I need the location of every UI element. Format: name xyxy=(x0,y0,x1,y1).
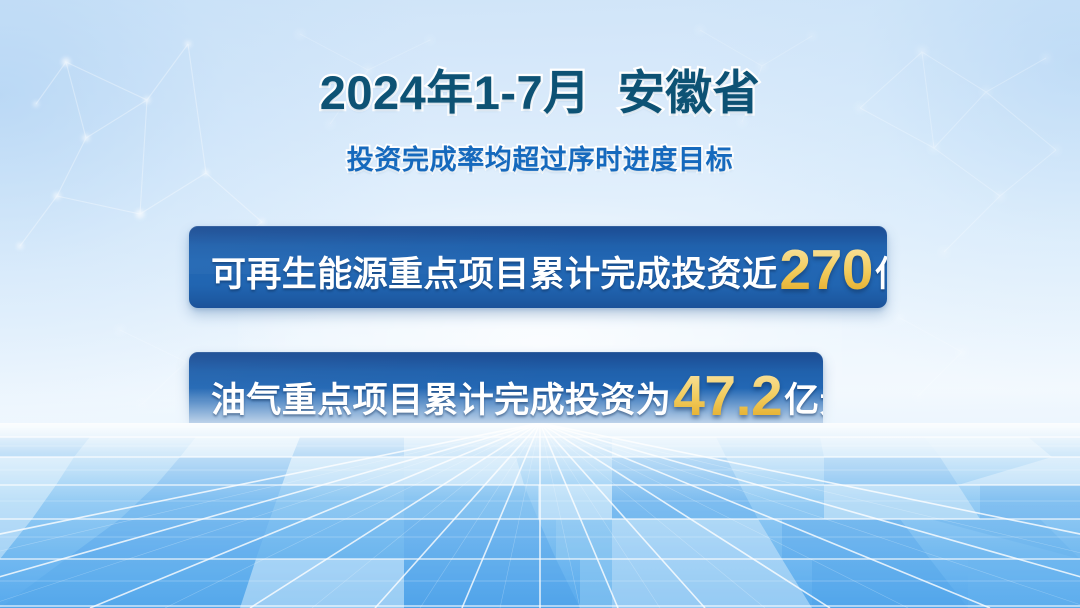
stat-unit: 亿元 xyxy=(875,246,887,297)
stat-lead-text: 油气重点项目累计完成投资为 xyxy=(211,372,671,423)
stat-unit: 亿元 xyxy=(784,372,823,423)
stat-value: 47.2 xyxy=(673,363,782,429)
page-title: 2024年1-7月 安徽省 xyxy=(0,66,1080,121)
stat-banner-text: 可再生能源重点项目累计完成投资近 270 亿元 xyxy=(189,234,887,300)
stat-lead-text: 可再生能源重点项目累计完成投资近 xyxy=(211,246,777,297)
stat-banner-oil-and-gas: 油气重点项目累计完成投资为 47.2 亿元 xyxy=(189,352,823,434)
stat-value: 270 xyxy=(779,237,873,303)
headline-group: 2024年1-7月 安徽省 投资完成率均超过序时进度目标 xyxy=(0,66,1080,177)
infographic-stage: 2024年1-7月 安徽省 投资完成率均超过序时进度目标 可再生能源重点项目累计… xyxy=(0,0,1080,608)
perspective-grid-floor xyxy=(0,423,1080,608)
stat-banner-renewable-energy: 可再生能源重点项目累计完成投资近 270 亿元 xyxy=(189,226,887,308)
page-subtitle: 投资完成率均超过序时进度目标 xyxy=(0,138,1080,177)
stat-banner-text: 油气重点项目累计完成投资为 47.2 亿元 xyxy=(189,360,823,426)
